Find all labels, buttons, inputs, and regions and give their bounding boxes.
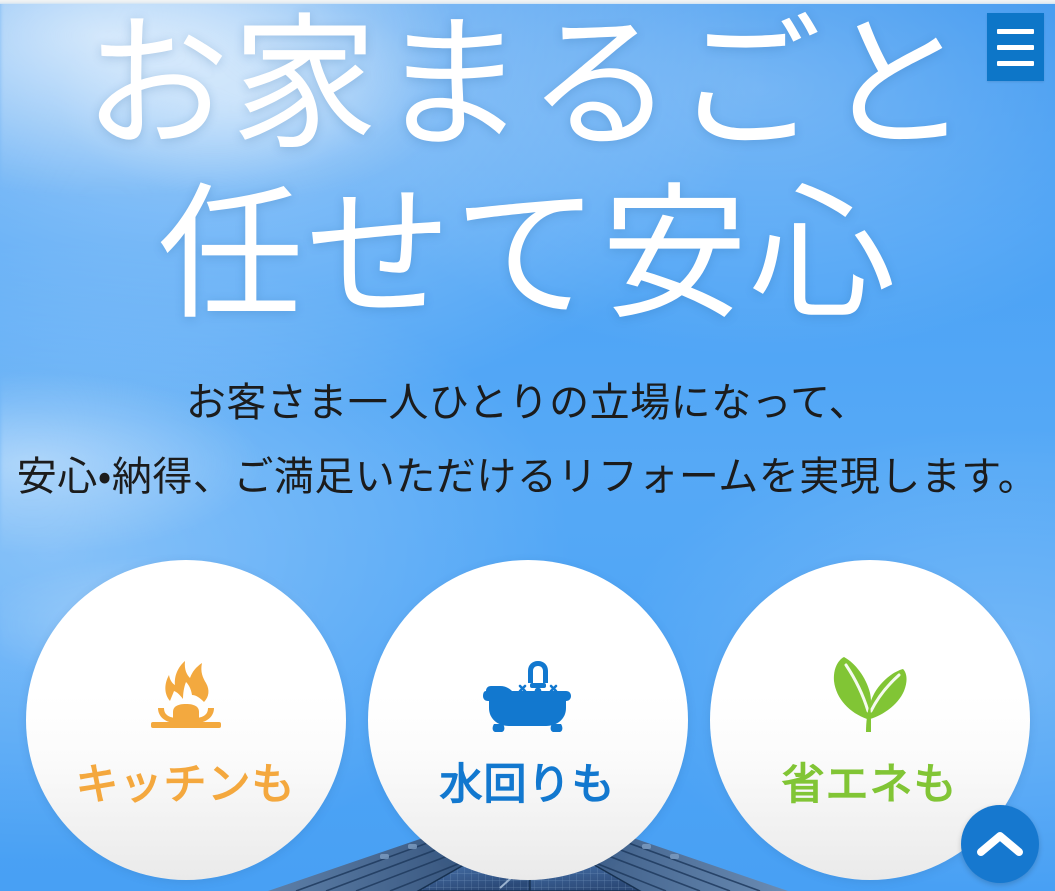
feature-badge-kitchen[interactable]: キッチンも [26, 560, 346, 880]
hamburger-menu-button[interactable] [987, 13, 1044, 81]
page-top-divider [0, 0, 1055, 4]
hamburger-menu-icon [997, 61, 1034, 66]
bathtub-faucet-icon [480, 646, 576, 742]
scroll-to-top-button[interactable] [961, 805, 1039, 883]
hero-subtitle: お客さま一人ひとりの立場になって、 安心・納得、ご満足いただけるリフォームを実現… [0, 366, 1055, 514]
headline-line-2: 任せて安心 [0, 170, 1055, 340]
hamburger-menu-icon [997, 29, 1034, 34]
feature-badge-list: キッチンも [0, 560, 1055, 891]
leaf-sprout-icon [822, 646, 918, 742]
hero-copy: お家まるごと 任せて安心 お客さま一人ひとりの立場になって、 安心・納得、ご満足… [0, 0, 1055, 514]
hamburger-menu-icon [997, 45, 1034, 50]
feature-label-water: 水回りも [440, 760, 616, 810]
gas-stove-flame-icon [138, 646, 234, 742]
chevron-up-icon [977, 829, 1023, 859]
headline-line-1: お家まるごと [0, 0, 1055, 170]
feature-label-kitchen: キッチンも [76, 760, 296, 810]
subtitle-line-1: お客さま一人ひとりの立場になって、 [0, 366, 1055, 440]
subtitle-line-2: 安心・納得、ご満足いただけるリフォームを実現します。 [0, 440, 1055, 514]
feature-badge-water[interactable]: 水回りも [368, 560, 688, 880]
hero-page: お家まるごと 任せて安心 お客さま一人ひとりの立場になって、 安心・納得、ご満足… [0, 0, 1055, 891]
page-title: お家まるごと 任せて安心 [0, 0, 1055, 340]
feature-label-eco: 省エネも [782, 760, 958, 810]
